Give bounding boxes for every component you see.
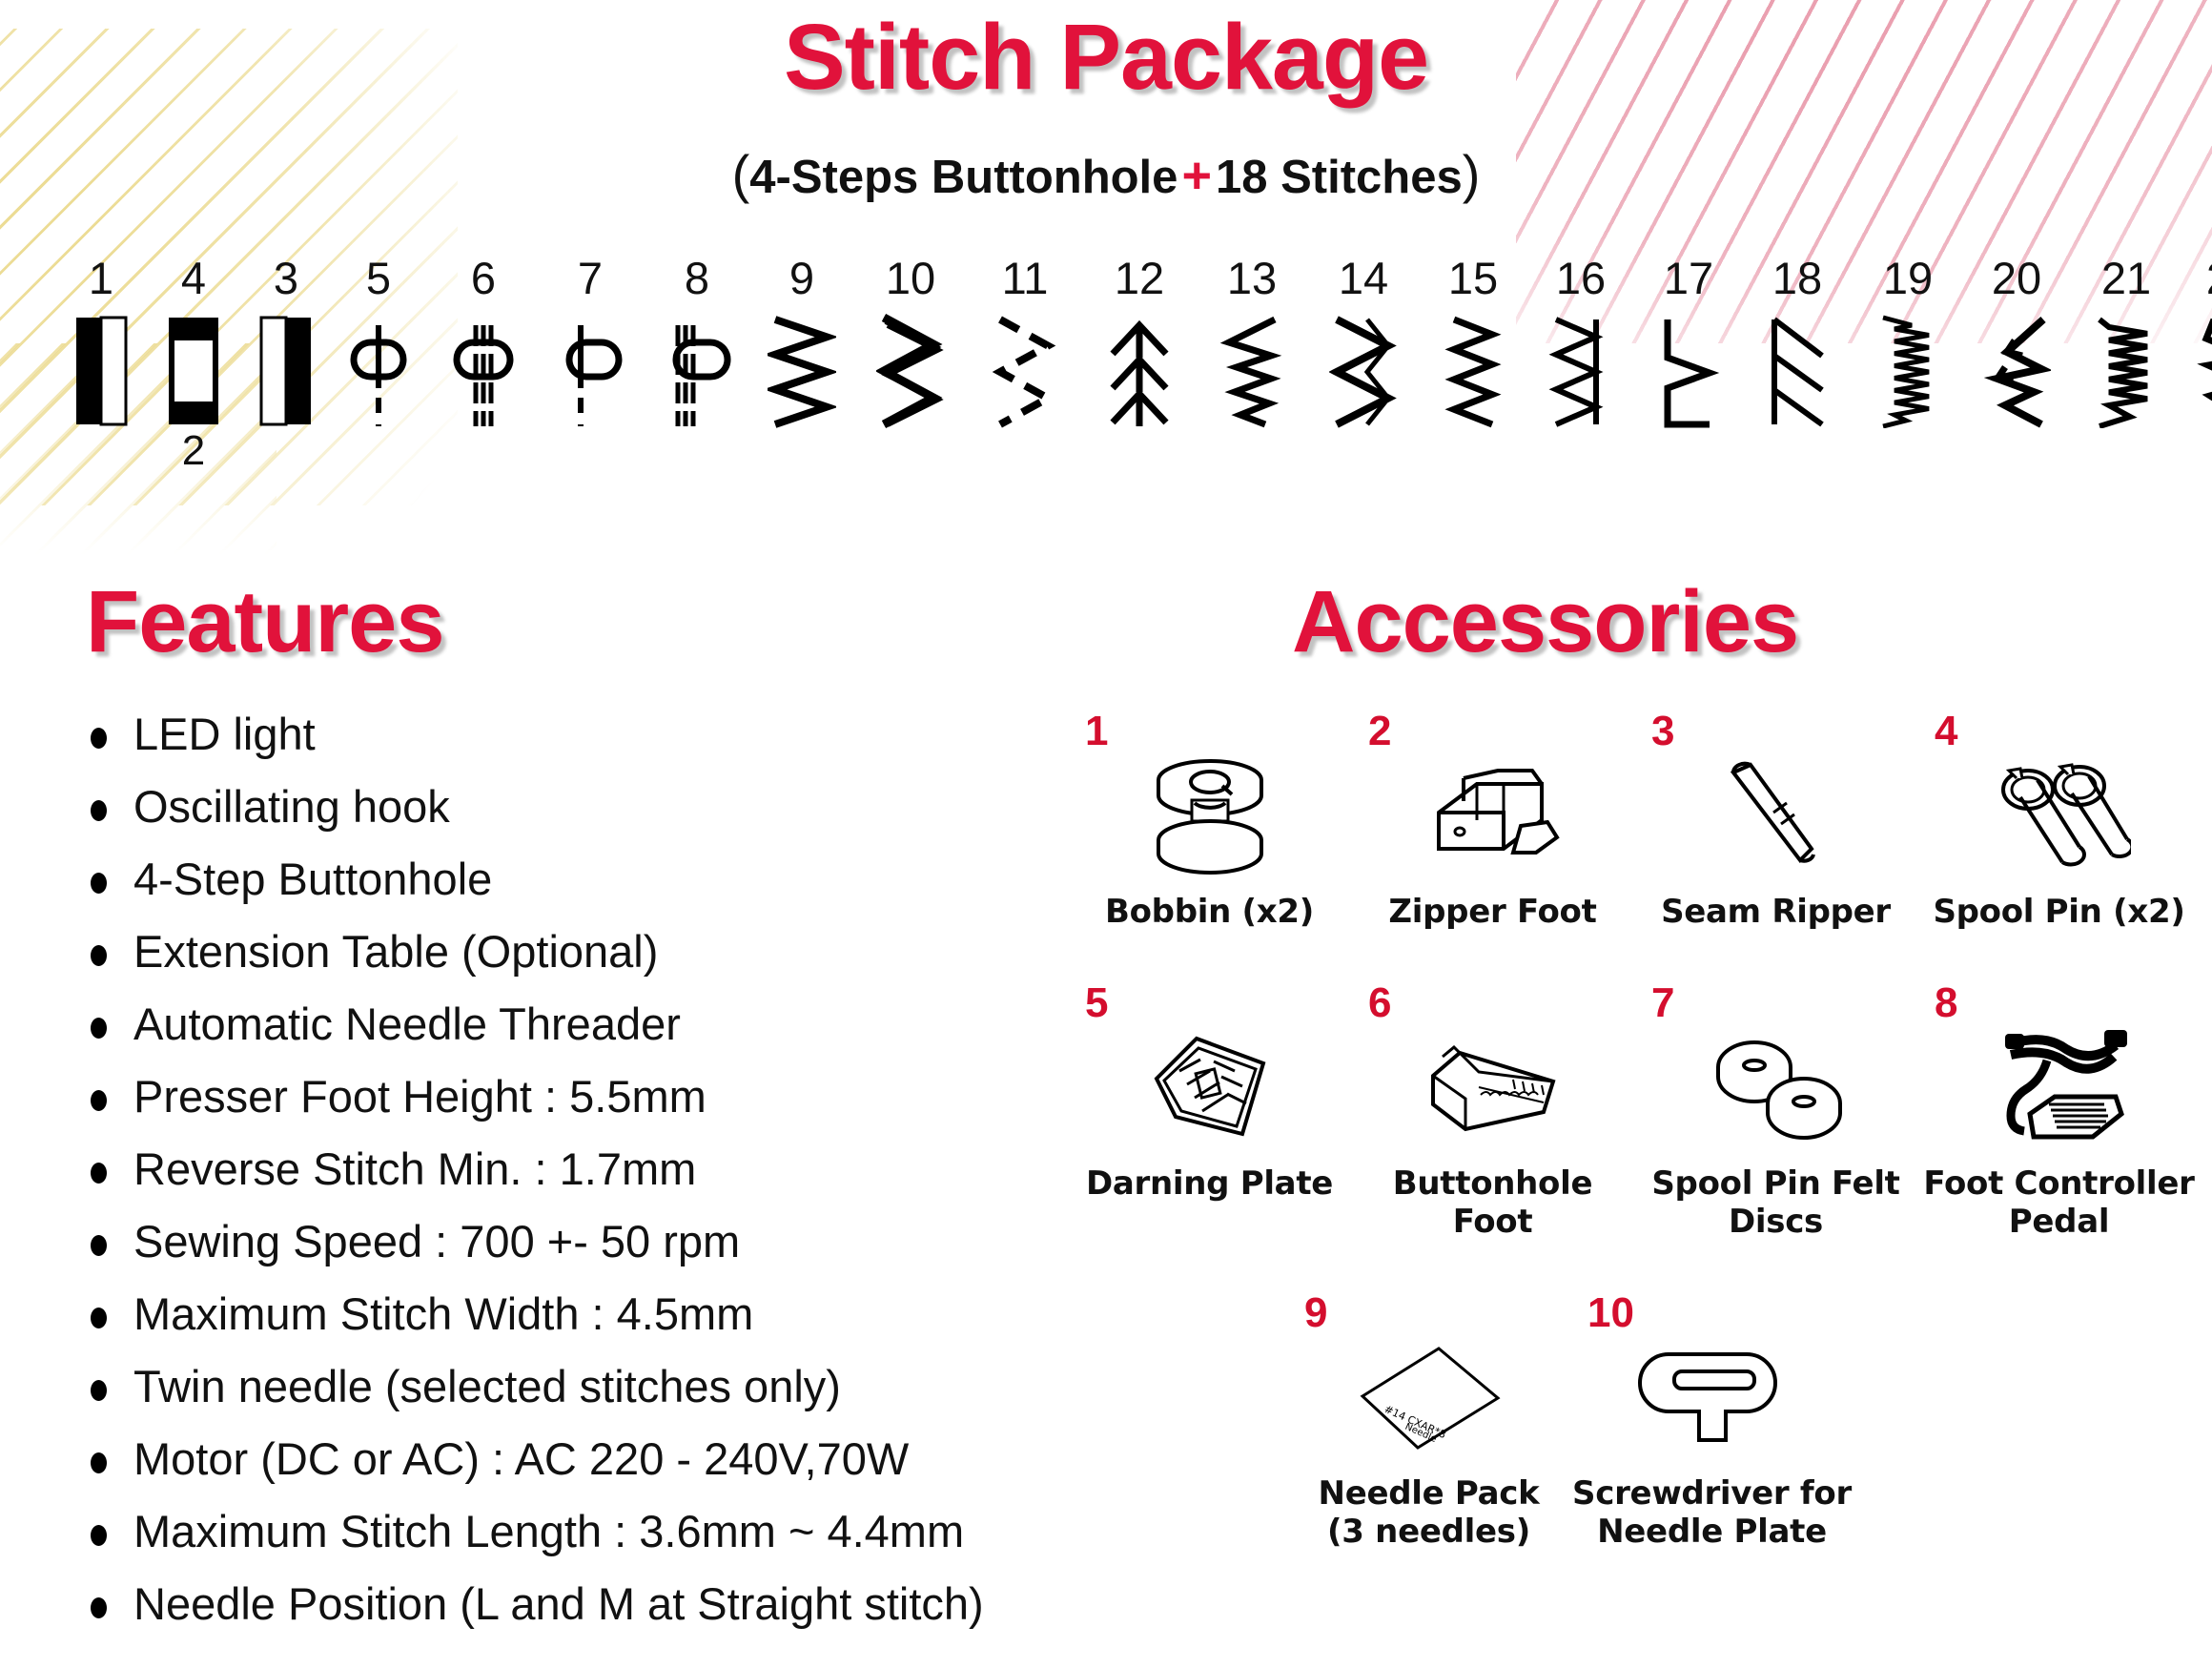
stitch-number: 8	[653, 256, 741, 300]
subtitle-open-paren: (	[732, 144, 750, 204]
stitch-pattern-straight-single-icon	[335, 314, 422, 428]
accessory-item-4: 4Spool Pin (x2)	[1917, 710, 2201, 931]
bullet-icon	[91, 1380, 107, 1401]
stitch-pattern-dense-zigzag-icon	[2074, 314, 2179, 428]
buttonhole-foot-icon	[1351, 1015, 1634, 1158]
stitch-item-6: 6	[440, 256, 527, 428]
feature-label: Needle Position (L and M at Straight sti…	[133, 1580, 984, 1627]
feature-label: Sewing Speed : 700 +- 50 rpm	[133, 1218, 740, 1265]
stitch-number-secondary: 2	[150, 430, 237, 472]
stitch-item-16: 16	[1528, 256, 1633, 428]
stitch-item-10: 10	[858, 256, 963, 428]
stitch-number: 4	[150, 256, 237, 300]
screwdriver-icon	[1570, 1325, 1854, 1468]
stitch-pattern-slant-overlock-icon	[1745, 314, 1850, 428]
bullet-icon	[91, 1163, 107, 1184]
feature-list-item: Needle Position (L and M at Straight sti…	[91, 1580, 1158, 1653]
stitch-item-12: 12	[1087, 256, 1192, 428]
stitch-number: 11	[973, 256, 1077, 300]
feature-list-item: Presser Foot Height : 5.5mm	[91, 1073, 1158, 1145]
bullet-icon	[91, 1018, 107, 1039]
accessory-number: 2	[1368, 710, 1391, 752]
feature-list-item: Maximum Stitch Width : 4.5mm	[91, 1290, 1158, 1363]
accessory-number: 3	[1651, 710, 1674, 752]
stitch-number: 14	[1311, 256, 1416, 300]
accessory-item-5: 5Darning Plate	[1068, 982, 1351, 1241]
accessory-item-10: 10Screwdriver forNeedle Plate	[1570, 1292, 1854, 1551]
bullet-icon	[91, 873, 107, 894]
page-subtitle: (4-Steps Buttonhole+18 Stitches)	[0, 143, 2212, 205]
feature-label: Twin needle (selected stitches only)	[133, 1363, 841, 1410]
stitch-pattern-straight-triple-left-icon	[653, 314, 741, 428]
stitch-number: 19	[1855, 256, 1960, 300]
feature-list-item: Motor (DC or AC) : AC 220 - 240V,70W	[91, 1435, 1158, 1508]
bullet-icon	[91, 1597, 107, 1618]
stitch-pattern-cross-stretch-icon	[2179, 314, 2212, 428]
accessory-label: Buttonhole Foot	[1351, 1165, 1634, 1241]
feature-label: Automatic Needle Threader	[133, 1000, 681, 1047]
stitch-pattern-straight-triple-icon	[440, 314, 527, 428]
accessory-item-8: 8Foot ControllerPedal	[1917, 982, 2201, 1241]
stitch-item-5: 5	[335, 256, 422, 428]
stitch-number: 16	[1528, 256, 1633, 300]
accessory-number: 5	[1085, 982, 1108, 1024]
stitch-item-21: 21	[2074, 256, 2179, 428]
accessory-item-3: 3Seam Ripper	[1634, 710, 1917, 931]
stitch-package-page: Stitch Package (4-Steps Buttonhole+18 St…	[0, 0, 2212, 1668]
accessories-heading: Accessories	[1292, 572, 1798, 672]
foot-controller-pedal-icon	[1917, 1015, 2201, 1158]
accessory-item-6: 6Buttonhole Foot	[1351, 982, 1634, 1241]
seam-ripper-icon	[1634, 743, 1917, 886]
stitch-number: 3	[242, 256, 330, 300]
bullet-icon	[91, 1452, 107, 1473]
feature-label: Oscillating hook	[133, 783, 450, 830]
stitch-item-17: 17	[1636, 256, 1741, 428]
accessory-item-9: 9#14 CXAR*8NeedleNeedle Pack(3 needles)	[1287, 1292, 1570, 1551]
feature-list-item: Automatic Needle Threader	[91, 1000, 1158, 1073]
stitch-pattern-zigzag-mixed-icon	[1199, 314, 1304, 428]
bullet-icon	[91, 800, 107, 821]
accessories-grid: 1Bobbin (x2)2Zipper Foot3Seam Ripper4Spo…	[1068, 710, 2202, 1551]
bullet-icon	[91, 728, 107, 749]
accessory-number: 10	[1587, 1292, 1634, 1334]
accessory-label: Foot ControllerPedal	[1917, 1165, 2201, 1241]
stitch-number: 15	[1421, 256, 1526, 300]
feature-label: 4-Step Buttonhole	[133, 855, 492, 902]
feature-label: Motor (DC or AC) : AC 220 - 240V,70W	[133, 1435, 909, 1482]
subtitle-left-text: 4-Steps Buttonhole	[749, 152, 1178, 203]
accessory-number: 4	[1935, 710, 1957, 752]
stitch-number: 17	[1636, 256, 1741, 300]
stitch-pattern-straight-single-left-icon	[546, 314, 634, 428]
darning-plate-icon	[1068, 1015, 1351, 1158]
feature-label: LED light	[133, 710, 316, 757]
stitch-item-19: 19	[1855, 256, 1960, 428]
stitch-item-15: 15	[1421, 256, 1526, 428]
page-title: Stitch Package	[0, 4, 2212, 111]
stitch-pattern-fine-zigzag-icon	[1855, 314, 1960, 428]
feature-label: Extension Table (Optional)	[133, 928, 658, 975]
stitch-item-20: 20	[1964, 256, 2069, 428]
features-heading: Features	[86, 572, 444, 672]
stitch-number: 22	[2179, 256, 2212, 300]
stitch-pattern-zigzag-narrow-icon	[1421, 314, 1526, 428]
feature-list-item: Oscillating hook	[91, 783, 1158, 855]
feature-label: Reverse Stitch Min. : 1.7mm	[133, 1145, 696, 1192]
accessories-row: 9#14 CXAR*8NeedleNeedle Pack(3 needles)1…	[1287, 1292, 2202, 1551]
stitch-pattern-strip: 14235678910111213141516171819202122	[57, 256, 2183, 475]
feature-list-item: Twin needle (selected stitches only)	[91, 1363, 1158, 1435]
subtitle-right-text: 18 Stitches	[1216, 152, 1463, 203]
stitch-number: 13	[1199, 256, 1304, 300]
stitch-pattern-zigzag-dashed-icon	[973, 314, 1077, 428]
stitch-item-4: 42	[150, 256, 237, 472]
bullet-icon	[91, 1235, 107, 1256]
feature-list-item: Extension Table (Optional)	[91, 928, 1158, 1000]
stitch-number: 12	[1087, 256, 1192, 300]
stitch-item-7: 7	[546, 256, 634, 428]
feature-list-item: 4-Step Buttonhole	[91, 855, 1158, 928]
stitch-pattern-zigzag-triple-icon	[858, 314, 963, 428]
stitch-number: 5	[335, 256, 422, 300]
accessory-label: Screwdriver forNeedle Plate	[1570, 1475, 1854, 1551]
stitch-pattern-double-zigzag-icon	[1311, 314, 1416, 428]
stitch-pattern-arrowhead-icon	[1964, 314, 2069, 428]
stitch-pattern-zigzag-icon	[758, 314, 846, 428]
accessories-row: 1Bobbin (x2)2Zipper Foot3Seam Ripper4Spo…	[1068, 710, 2202, 931]
feature-list-item: Sewing Speed : 700 +- 50 rpm	[91, 1218, 1158, 1290]
stitch-number: 9	[758, 256, 846, 300]
stitch-item-1: 1	[57, 256, 145, 428]
zipper-foot-icon	[1351, 743, 1634, 886]
stitch-item-18: 18	[1745, 256, 1850, 428]
accessory-number: 6	[1368, 982, 1391, 1024]
bullet-icon	[91, 1525, 107, 1546]
stitch-item-3: 3	[242, 256, 330, 428]
feature-list-item: Reverse Stitch Min. : 1.7mm	[91, 1145, 1158, 1218]
stitch-item-22: 22	[2179, 256, 2212, 428]
stitch-pattern-buttonhole-bartack-icon	[150, 314, 237, 428]
stitch-number: 6	[440, 256, 527, 300]
feature-label: Maximum Stitch Length : 3.6mm ~ 4.4mm	[133, 1508, 964, 1555]
bobbin-icon	[1068, 743, 1351, 886]
accessory-number: 8	[1935, 982, 1957, 1024]
feature-list-item: LED light	[91, 710, 1158, 783]
stitch-item-9: 9	[758, 256, 846, 428]
stitch-item-13: 13	[1199, 256, 1304, 428]
stitch-item-14: 14	[1311, 256, 1416, 428]
accessory-label: Needle Pack(3 needles)	[1287, 1475, 1570, 1551]
stitch-item-11: 11	[973, 256, 1077, 428]
accessory-number: 7	[1651, 982, 1674, 1024]
accessories-row: 5Darning Plate6Buttonhole Foot7Spool Pin…	[1068, 982, 2202, 1241]
accessory-item-1: 1Bobbin (x2)	[1068, 710, 1351, 931]
accessory-item-2: 2Zipper Foot	[1351, 710, 1634, 931]
stitch-pattern-blind-hem-icon	[1528, 314, 1633, 428]
stitch-number: 10	[858, 256, 963, 300]
accessory-label: Bobbin (x2)	[1068, 894, 1351, 931]
accessory-label: Seam Ripper	[1634, 894, 1917, 931]
subtitle-plus-symbol: +	[1178, 147, 1216, 204]
accessory-item-7: 7Spool Pin FeltDiscs	[1634, 982, 1917, 1241]
stitch-pattern-buttonhole-left-icon	[57, 314, 145, 428]
accessory-label: Spool Pin FeltDiscs	[1634, 1165, 1917, 1241]
accessory-number: 1	[1085, 710, 1108, 752]
feature-list-item: Maximum Stitch Length : 3.6mm ~ 4.4mm	[91, 1508, 1158, 1580]
stitch-number: 1	[57, 256, 145, 300]
features-list: LED lightOscillating hook4-Step Buttonho…	[91, 710, 1158, 1653]
needle-pack-icon: #14 CXAR*8Needle	[1287, 1325, 1570, 1468]
stitch-number: 18	[1745, 256, 1850, 300]
stitch-pattern-arrow-chevron-icon	[1087, 314, 1192, 428]
stitch-number: 7	[546, 256, 634, 300]
accessory-label: Spool Pin (x2)	[1917, 894, 2201, 931]
stitch-number: 20	[1964, 256, 2069, 300]
accessory-label: Darning Plate	[1068, 1165, 1351, 1203]
feature-label: Maximum Stitch Width : 4.5mm	[133, 1290, 753, 1337]
feature-label: Presser Foot Height : 5.5mm	[133, 1073, 707, 1120]
stitch-number: 21	[2074, 256, 2179, 300]
subtitle-close-paren: )	[1463, 144, 1481, 204]
bullet-icon	[91, 1090, 107, 1111]
stitch-pattern-buttonhole-right-icon	[242, 314, 330, 428]
stitch-item-8: 8	[653, 256, 741, 428]
spool-pin-felt-discs-icon	[1634, 1015, 1917, 1158]
bullet-icon	[91, 945, 107, 966]
bullet-icon	[91, 1308, 107, 1328]
stitch-pattern-stretch-blind-hem-icon	[1636, 314, 1741, 428]
accessory-number: 9	[1304, 1292, 1327, 1334]
spool-pin-icon	[1917, 743, 2201, 886]
accessory-label: Zipper Foot	[1351, 894, 1634, 931]
